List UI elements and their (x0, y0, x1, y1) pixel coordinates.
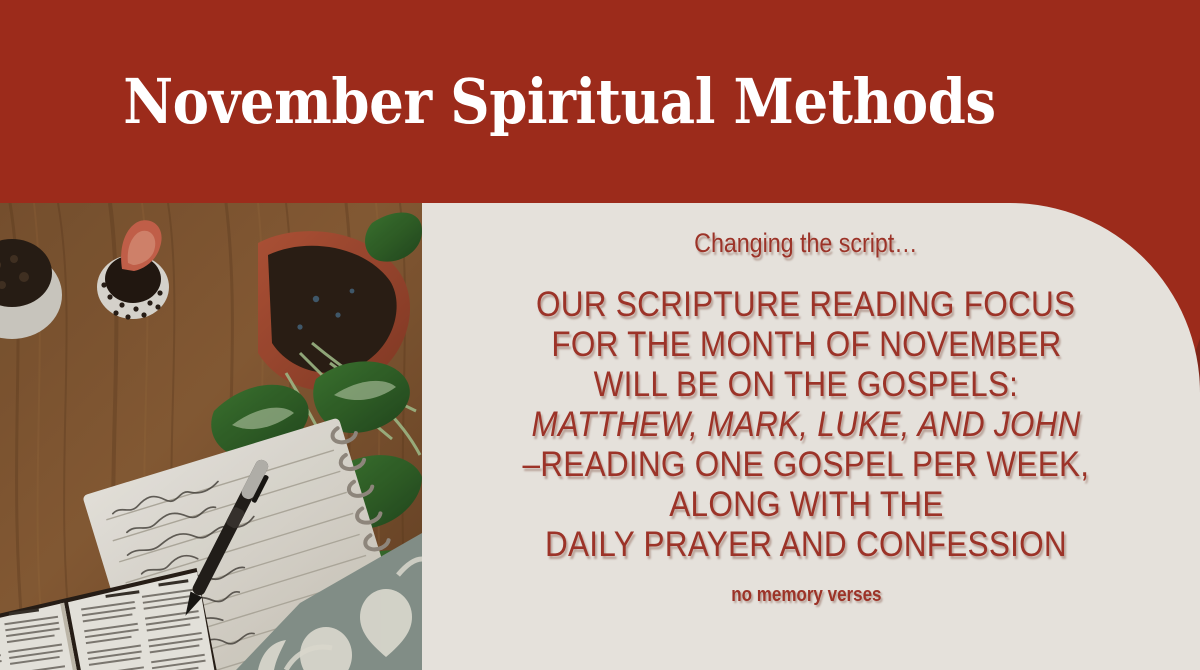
body-line: WILL BE ON THE GOSPELS: (594, 365, 1019, 405)
slide-root: November Spiritual Methods (0, 0, 1200, 670)
body-line: OUR SCRIPTURE READING FOCUS (536, 285, 1075, 325)
body-line: FOR THE MONTH OF NOVEMBER (551, 325, 1061, 365)
body-line: ALONG WITH THE (669, 485, 943, 525)
footnote-text: no memory verses (731, 585, 881, 605)
body-line: –READING ONE GOSPEL PER WEEK, (523, 445, 1090, 485)
body-line: DAILY PRAYER AND CONFESSION (545, 525, 1067, 565)
kicker-text: Changing the script… (694, 229, 917, 259)
scripture-photo (0, 203, 422, 670)
background-red-band (0, 0, 1060, 215)
body-text-block: OUR SCRIPTURE READING FOCUS FOR THE MONT… (452, 285, 1160, 565)
body-line-gospels: MATTHEW, MARK, LUKE, AND JOHN (531, 405, 1080, 445)
content-panel: Changing the script… OUR SCRIPTURE READI… (422, 203, 1200, 670)
